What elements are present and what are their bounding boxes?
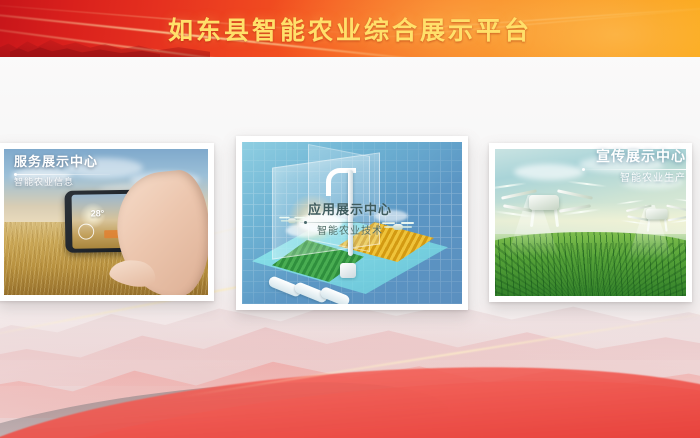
caption-divider <box>14 174 110 175</box>
header-banner: 如东县智能农业综合展示平台 <box>0 0 700 57</box>
caption-dot <box>304 221 307 224</box>
card-service-caption: 服务展示中心 智能农业信息 <box>14 156 110 188</box>
card-publicity-title: 宣传展示中心 <box>582 150 686 164</box>
rotor <box>673 198 686 203</box>
card-application-caption: 应用展示中心 智能农业技术 <box>0 204 700 237</box>
card-service-title: 服务展示中心 <box>14 156 110 169</box>
card-application-subtitle: 智能农业技术 <box>0 227 700 237</box>
caption-divider <box>582 169 686 170</box>
card-publicity-subtitle: 智能农业生产 <box>582 174 686 184</box>
caption-divider <box>300 222 400 223</box>
control-box <box>340 263 356 278</box>
page-title: 如东县智能农业综合展示平台 <box>0 11 700 47</box>
card-application-title: 应用展示中心 <box>0 204 700 217</box>
caption-dot <box>582 168 585 171</box>
rotor <box>495 182 527 190</box>
card-service-subtitle: 智能农业信息 <box>14 179 110 188</box>
card-publicity-caption: 宣传展示中心 智能农业生产 <box>582 150 686 184</box>
drone-arm <box>557 189 593 199</box>
page-root: 如东县智能农业综合展示平台 28° <box>0 0 700 438</box>
caption-dot <box>14 173 17 176</box>
cloud <box>514 164 584 180</box>
